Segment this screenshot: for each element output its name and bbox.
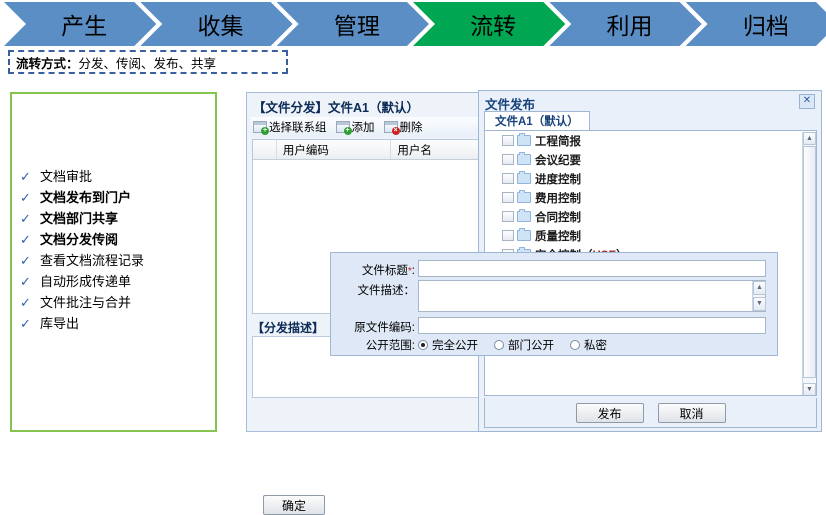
feature-item-label: 查看文档流程记录 xyxy=(40,250,144,269)
process-step-4: 流转 xyxy=(413,2,565,46)
close-icon[interactable]: ✕ xyxy=(799,94,815,109)
badge-icon: + xyxy=(344,127,352,135)
folder-icon xyxy=(517,173,531,184)
scroll-up-icon[interactable]: ▲ xyxy=(803,132,816,145)
cancel-button[interactable]: 取消 xyxy=(658,403,726,423)
column-header-user-name: 用户名 xyxy=(391,140,483,159)
delete-button[interactable]: ×删除 xyxy=(382,118,425,136)
publish-footer: 发布取消 xyxy=(484,398,817,428)
scroll-down-icon[interactable]: ▼ xyxy=(753,297,766,311)
feature-item: ✓文件批注与合并 xyxy=(20,292,215,313)
distribution-toolbar: +选择联系组+添加×删除 xyxy=(251,117,485,137)
file-title-input[interactable] xyxy=(418,260,766,277)
publish-tab[interactable]: 文件A1（默认） xyxy=(484,111,590,130)
process-step-label: 收集 xyxy=(189,7,243,41)
file-desc-label: 文件描述： xyxy=(339,280,418,298)
feature-item: ✓查看文档流程记录 xyxy=(20,250,215,271)
check-icon: ✓ xyxy=(20,169,40,185)
form-row-description: 文件描述： ▲ ▼ xyxy=(339,280,766,312)
column-header-blank xyxy=(253,140,277,159)
tree-item[interactable]: 质量控制 xyxy=(485,226,816,245)
select-group-button[interactable]: +选择联系组 xyxy=(251,118,329,136)
scope-radio-label: 部门公开 xyxy=(508,337,554,353)
feature-item: ✓库导出 xyxy=(20,313,215,334)
file-title-label: 文件标题*: xyxy=(339,260,418,278)
scroll-up-icon[interactable]: ▲ xyxy=(753,281,766,295)
process-step-label: 归档 xyxy=(735,7,789,41)
feature-item-label: 文档部门共享 xyxy=(40,208,118,227)
flow-method-value: 分发、传阅、发布、共享 xyxy=(79,53,217,72)
radio-icon[interactable] xyxy=(570,340,580,350)
add-icon: + xyxy=(336,121,350,133)
tree-item[interactable]: 进度控制 xyxy=(485,169,816,188)
scrollbar-thumb[interactable] xyxy=(803,146,816,378)
check-icon: ✓ xyxy=(20,295,40,311)
tree-item-label: 合同控制 xyxy=(535,209,581,225)
toolbar-button-label: 选择联系组 xyxy=(269,119,327,135)
form-row-scope: 公开范围: 完全公开部门公开私密 xyxy=(339,337,623,353)
check-icon: ✓ xyxy=(20,190,40,206)
feature-item-label: 文档发布到门户 xyxy=(40,187,131,206)
publish-button[interactable]: 发布 xyxy=(576,403,644,423)
radio-icon[interactable] xyxy=(418,340,428,350)
scroll-down-icon[interactable]: ▼ xyxy=(803,383,816,396)
process-step-3: 管理 xyxy=(277,2,429,46)
flow-method-label: 流转方式： xyxy=(16,53,79,72)
feature-list: ✓文档审批✓文档发布到门户✓文档部门共享✓文档分发传阅✓查看文档流程记录✓自动形… xyxy=(20,166,215,334)
add-button[interactable]: +添加 xyxy=(334,118,377,136)
original-code-input[interactable] xyxy=(418,317,766,334)
process-step-1: 产生 xyxy=(4,2,156,46)
toolbar-button-label: 删除 xyxy=(400,119,423,135)
distribution-title: 【文件分发】文件A1（默认） xyxy=(253,97,419,116)
radio-icon[interactable] xyxy=(494,340,504,350)
scope-radio-group: 完全公开部门公开私密 xyxy=(418,337,623,353)
distribution-confirm-button[interactable]: 确定 xyxy=(263,495,325,515)
tree-item[interactable]: 会议纪要 xyxy=(485,150,816,169)
badge-icon: + xyxy=(261,127,269,135)
publish-tree-scrollbar[interactable]: ▲ ▼ xyxy=(802,132,815,396)
scope-label: 公开范围: xyxy=(339,337,418,353)
tree-checkbox[interactable] xyxy=(502,173,514,184)
check-icon: ✓ xyxy=(20,211,40,227)
tree-item-label: 工程简报 xyxy=(535,133,581,149)
check-icon: ✓ xyxy=(20,232,40,248)
folder-icon xyxy=(517,211,531,222)
process-step-label: 流转 xyxy=(462,7,516,41)
tree-item-label: 质量控制 xyxy=(535,228,581,244)
scope-radio-label: 完全公开 xyxy=(432,337,478,353)
tree-checkbox[interactable] xyxy=(502,230,514,241)
form-row-title: 文件标题*: xyxy=(339,260,766,278)
folder-icon xyxy=(517,230,531,241)
folder-icon xyxy=(517,135,531,146)
feature-item-label: 自动形成传递单 xyxy=(40,271,131,290)
feature-list-panel: ✓文档审批✓文档发布到门户✓文档部门共享✓文档分发传阅✓查看文档流程记录✓自动形… xyxy=(10,92,217,432)
check-icon: ✓ xyxy=(20,316,40,332)
process-step-5: 利用 xyxy=(549,2,701,46)
distribution-table-header: 用户编码 用户名 xyxy=(253,140,483,160)
flow-method-note: 流转方式： 分发、传阅、发布、共享 xyxy=(8,50,288,74)
feature-item: ✓文档分发传阅 xyxy=(20,229,215,250)
badge-icon: × xyxy=(392,127,400,135)
tree-item-label: 会议纪要 xyxy=(535,152,581,168)
tree-item[interactable]: 合同控制 xyxy=(485,207,816,226)
tree-item-label: 费用控制 xyxy=(535,190,581,206)
scope-radio-option[interactable]: 部门公开 xyxy=(494,337,554,353)
check-icon: ✓ xyxy=(20,253,40,269)
feature-item-label: 文档审批 xyxy=(40,166,92,185)
feature-item: ✓文档发布到门户 xyxy=(20,187,215,208)
tree-checkbox[interactable] xyxy=(502,154,514,165)
feature-item-label: 文档分发传阅 xyxy=(40,229,118,248)
toolbar-button-label: 添加 xyxy=(352,119,375,135)
process-step-label: 产生 xyxy=(53,7,107,41)
process-step-2: 收集 xyxy=(140,2,292,46)
publish-form-dialog: 文件标题*: 文件描述： ▲ ▼ 原文件编码: 公开范围: 完全公开部门公开私密 xyxy=(330,252,778,356)
column-header-user-code: 用户编码 xyxy=(277,140,391,159)
feature-item: ✓文档部门共享 xyxy=(20,208,215,229)
scope-radio-option[interactable]: 完全公开 xyxy=(418,337,478,353)
feature-item: ✓自动形成传递单 xyxy=(20,271,215,292)
feature-item-label: 文件批注与合并 xyxy=(40,292,131,311)
tree-item[interactable]: 费用控制 xyxy=(485,188,816,207)
desc-scrollbar[interactable]: ▲ ▼ xyxy=(752,281,765,311)
required-marker: * xyxy=(408,266,412,277)
file-desc-textarea[interactable]: ▲ ▼ xyxy=(418,280,766,312)
delete-icon: × xyxy=(384,121,398,133)
process-step-6: 归档 xyxy=(686,2,826,46)
scope-radio-option[interactable]: 私密 xyxy=(570,337,607,353)
process-flow-banner: 产生收集管理流转利用归档 xyxy=(0,2,826,46)
original-code-label: 原文件编码: xyxy=(339,317,418,335)
folder-icon xyxy=(517,154,531,165)
feature-item-label: 库导出 xyxy=(40,313,79,332)
tree-checkbox[interactable] xyxy=(502,135,514,146)
tree-item-label: 进度控制 xyxy=(535,171,581,187)
distribution-desc-label: 【分发描述】 xyxy=(252,319,324,336)
form-row-original-code: 原文件编码: xyxy=(339,317,766,335)
tree-checkbox[interactable] xyxy=(502,211,514,222)
process-step-label: 管理 xyxy=(326,7,380,41)
check-icon: ✓ xyxy=(20,274,40,290)
tree-checkbox[interactable] xyxy=(502,192,514,203)
select-group-icon: + xyxy=(253,121,267,133)
feature-item: ✓文档审批 xyxy=(20,166,215,187)
tree-item[interactable]: 工程简报 xyxy=(485,131,816,150)
process-step-label: 利用 xyxy=(598,7,652,41)
folder-icon xyxy=(517,192,531,203)
publish-tab-strip: 文件A1（默认） xyxy=(484,111,817,131)
scope-radio-label: 私密 xyxy=(584,337,607,353)
